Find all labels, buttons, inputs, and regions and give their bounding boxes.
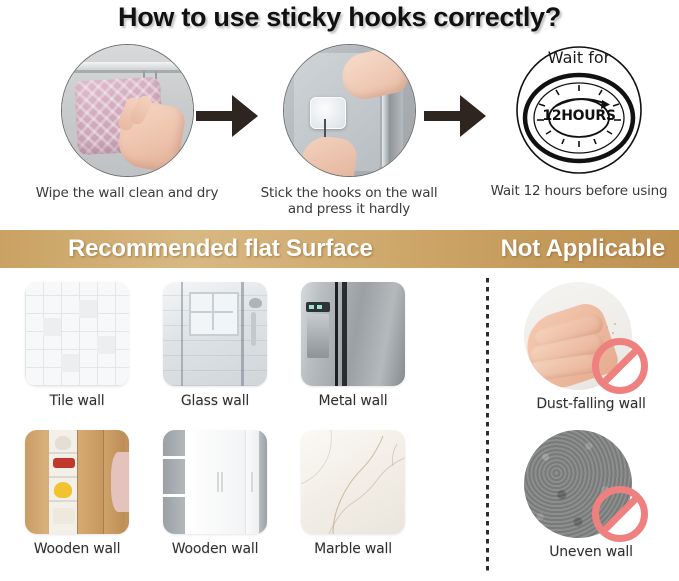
section-banner: Recommended flat Surface Not Applicable (0, 230, 679, 268)
wooden-wardrobe-swatch (25, 430, 129, 534)
not-applicable-uneven-wall: Uneven wall (516, 430, 666, 560)
step-2: Stick the hooks on the wall and press it… (244, 44, 454, 217)
clock-center-label: 12HOURS (504, 108, 654, 124)
surface-label: Wooden wall (150, 541, 280, 557)
marble-wall-swatch (301, 430, 405, 534)
hand-pressing-hook-photo (283, 44, 416, 177)
wall-rail (62, 62, 193, 70)
surface-glass-wall: Glass wall (150, 282, 280, 409)
step-2-caption-line-2: and press it hardly (244, 201, 454, 217)
surface-wooden-wall-1: Wooden wall (12, 430, 142, 557)
not-applicable-dust-falling-wall: Dust-falling wall (516, 282, 666, 412)
tile-wall-swatch (25, 282, 129, 386)
surface-label: Tile wall (12, 393, 142, 409)
cloth-wiping-wall-photo (61, 44, 194, 177)
clock-timer-illustration: Wait for 12HOURS (504, 44, 654, 177)
step-2-caption: Stick the hooks on the wall and press it… (244, 185, 454, 217)
banner-not-applicable-label: Not Applicable (501, 235, 665, 263)
surface-metal-wall: Metal wall (288, 282, 418, 409)
prohibition-icon (592, 486, 648, 542)
surface-label: Wooden wall (12, 541, 142, 557)
surface-label: Marble wall (288, 541, 418, 557)
glass-wall-swatch (163, 282, 267, 386)
surface-label: Metal wall (288, 393, 418, 409)
step-3: Wait for 12HOURS Wait 12 hours before us… (474, 44, 679, 199)
step-3-caption: Wait 12 hours before using (474, 183, 679, 199)
banner-recommended-label: Recommended flat Surface (68, 235, 373, 263)
surface-label: Glass wall (150, 393, 280, 409)
steps-row: Wipe the wall clean and dry Stick the ho… (0, 44, 679, 219)
wall-rail-shadow (62, 70, 193, 73)
surface-label: Uneven wall (516, 544, 666, 560)
surface-label: Dust-falling wall (516, 396, 666, 412)
clock-top-label: Wait for (504, 48, 654, 67)
step-1-caption: Wipe the wall clean and dry (22, 185, 232, 201)
surface-tile-wall: Tile wall (12, 282, 142, 409)
surface-wooden-wall-2: Wooden wall (150, 430, 280, 557)
white-wardrobe-swatch (163, 430, 267, 534)
page-title: How to use sticky hooks correctly? (0, 2, 679, 33)
column-divider (486, 278, 489, 573)
step-2-caption-line-1: Stick the hooks on the wall (244, 185, 454, 201)
prohibition-icon (592, 338, 648, 394)
infographic-page: How to use sticky hooks correctly? Wipe … (0, 0, 679, 581)
metal-wall-swatch (301, 282, 405, 386)
surface-marble-wall: Marble wall (288, 430, 418, 557)
